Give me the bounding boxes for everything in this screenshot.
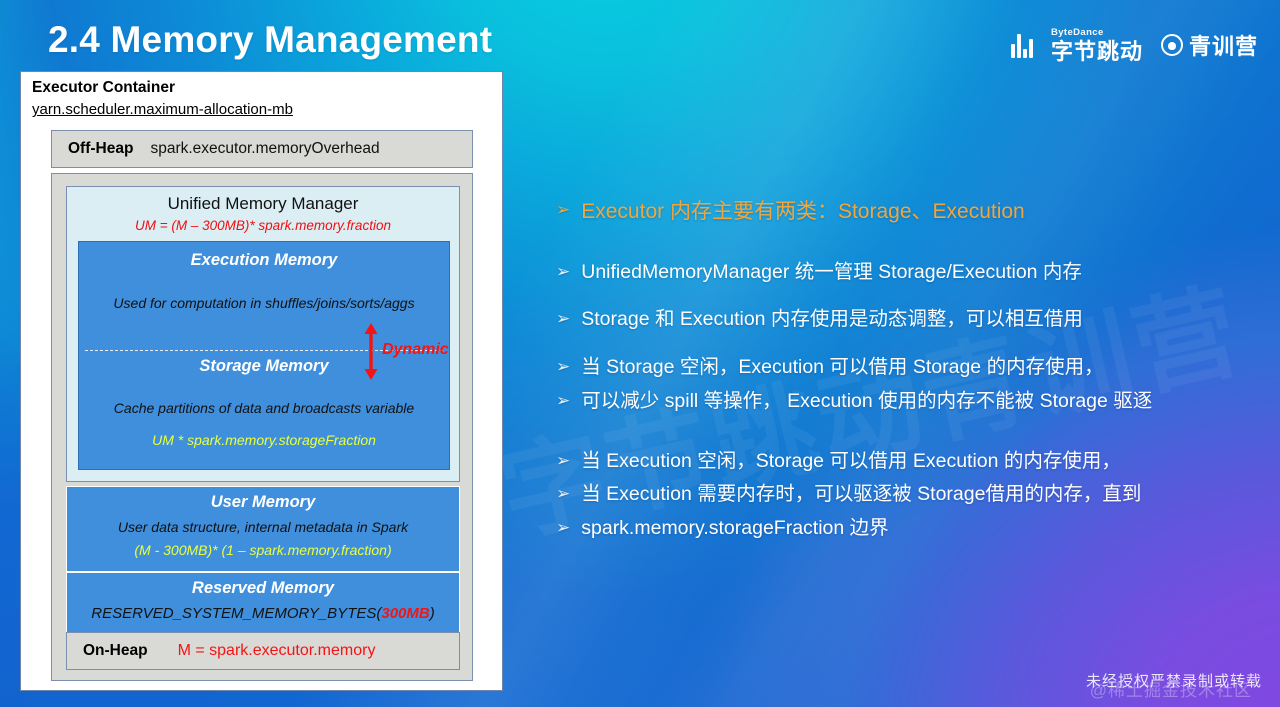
storage-memory-title: Storage Memory [79, 357, 449, 376]
bytedance-wordmark: ByteDance 字节跳动 [1051, 28, 1143, 63]
bytedance-cn-label: 字节跳动 [1051, 41, 1143, 63]
bullet-arrow-icon: ➢ [556, 307, 570, 331]
bullet-item-2: ➢ Storage 和 Execution 内存使用是动态调整，可以相互借用 [556, 307, 1266, 333]
execution-memory-description: Used for computation in shuffles/joins/s… [79, 295, 449, 311]
footer-notice: 未经授权严禁录制或转载 [1086, 670, 1262, 691]
on-heap-panel: Unified Memory Manager UM = (M – 300MB)*… [51, 173, 473, 681]
bullet-arrow-icon: ➢ [556, 449, 570, 473]
user-memory-box: User Memory User data structure, interna… [66, 486, 460, 572]
bullet-item-7: ➢ spark.memory.storageFraction 边界 [556, 516, 1266, 542]
unified-memory-manager-formula: UM = (M – 300MB)* spark.memory.fraction [67, 218, 459, 233]
bullet-text: 当 Execution 需要内存时，可以驱逐被 Storage借用的内存，直到 [581, 482, 1141, 508]
brand-bar: ByteDance 字节跳动 青训营 [1011, 28, 1258, 63]
executor-container-diagram: Executor Container yarn.scheduler.maximu… [20, 71, 503, 691]
unified-memory-manager-box: Unified Memory Manager UM = (M – 300MB)*… [66, 186, 460, 482]
bullet-text: UnifiedMemoryManager 统一管理 Storage/Execut… [581, 260, 1082, 286]
bullet-arrow-icon: ➢ [556, 516, 570, 540]
bullet-arrow-icon: ➢ [556, 389, 570, 413]
off-heap-label: Off-Heap [68, 140, 133, 158]
reserved-memory-formula: RESERVED_SYSTEM_MEMORY_BYTES(300MB) [67, 605, 459, 622]
bullet-item-5: ➢ 当 Execution 空闲，Storage 可以借用 Execution … [556, 449, 1266, 475]
on-heap-value: M = spark.executor.memory [178, 642, 376, 660]
reserved-formula-prefix: RESERVED_SYSTEM_MEMORY_BYTES( [91, 605, 381, 622]
bullet-spacer [556, 474, 1266, 482]
bullet-spacer [556, 415, 1266, 449]
storage-memory-description: Cache partitions of data and broadcasts … [79, 400, 449, 416]
executor-container-subtitle: yarn.scheduler.maximum-allocation-mb [32, 101, 293, 118]
unified-memory-manager-title: Unified Memory Manager [67, 194, 459, 214]
bullet-arrow-icon: ➢ [556, 355, 570, 379]
off-heap-row: Off-Heap spark.executor.memoryOverhead [51, 130, 473, 168]
bullet-text: Storage 和 Execution 内存使用是动态调整，可以相互借用 [581, 307, 1083, 333]
bullet-item-6: ➢ 当 Execution 需要内存时，可以驱逐被 Storage借用的内存，直… [556, 482, 1266, 508]
bullet-item-1: ➢ UnifiedMemoryManager 统一管理 Storage/Exec… [556, 260, 1266, 286]
reserved-formula-highlight: 300MB [381, 605, 429, 622]
bullet-text: spark.memory.storageFraction 边界 [581, 516, 888, 542]
bytedance-logo-icon [1011, 32, 1033, 58]
training-camp-mark-icon [1161, 34, 1183, 56]
reserved-memory-title: Reserved Memory [67, 579, 459, 598]
execution-memory-title: Execution Memory [79, 251, 449, 270]
on-heap-row: On-Heap M = spark.executor.memory [66, 632, 460, 670]
bullet-arrow-icon: ➢ [556, 260, 570, 284]
bullet-spacer [556, 333, 1266, 355]
bullet-item-3: ➢ 当 Storage 空闲，Execution 可以借用 Storage 的内… [556, 355, 1266, 381]
bullet-item-0: ➢ Executor 内存主要有两类：Storage、Execution [556, 198, 1266, 226]
bullet-arrow-icon: ➢ [556, 482, 570, 506]
bullet-text: 当 Execution 空闲，Storage 可以借用 Execution 的内… [581, 449, 1121, 475]
user-memory-description: User data structure, internal metadata i… [67, 519, 459, 535]
executor-container-title: Executor Container [32, 79, 175, 97]
user-memory-title: User Memory [67, 493, 459, 512]
bullet-arrow-icon: ➢ [556, 198, 570, 222]
bullet-text: 可以减少 spill 等操作， Execution 使用的内存不能被 Stora… [581, 389, 1152, 415]
bullet-item-4: ➢ 可以减少 spill 等操作， Execution 使用的内存不能被 Sto… [556, 389, 1266, 415]
reserved-memory-box: Reserved Memory RESERVED_SYSTEM_MEMORY_B… [66, 572, 460, 636]
on-heap-label: On-Heap [83, 642, 148, 660]
reserved-formula-suffix: ) [430, 605, 435, 622]
user-memory-formula: (M - 300MB)* (1 – spark.memory.fraction) [67, 542, 459, 558]
bullet-text: 当 Storage 空闲，Execution 可以借用 Storage 的内存使… [581, 355, 1103, 381]
off-heap-value: spark.executor.memoryOverhead [150, 140, 379, 158]
storage-memory-formula: UM * spark.memory.storageFraction [79, 432, 449, 448]
bullet-spacer [556, 381, 1266, 389]
training-camp-logo: 青训营 [1161, 29, 1258, 61]
bullet-text: Executor 内存主要有两类：Storage、Execution [581, 198, 1024, 226]
bullet-spacer [556, 508, 1266, 516]
training-camp-label: 青训营 [1189, 29, 1258, 61]
bytedance-en-label: ByteDance [1051, 28, 1143, 38]
bullet-spacer [556, 226, 1266, 260]
bullet-spacer [556, 285, 1266, 307]
page-title: 2.4 Memory Management [48, 19, 492, 61]
bullet-list: ➢ Executor 内存主要有两类：Storage、Execution ➢ U… [556, 198, 1266, 542]
execution-storage-memory-box: Execution Memory Used for computation in… [78, 241, 450, 470]
